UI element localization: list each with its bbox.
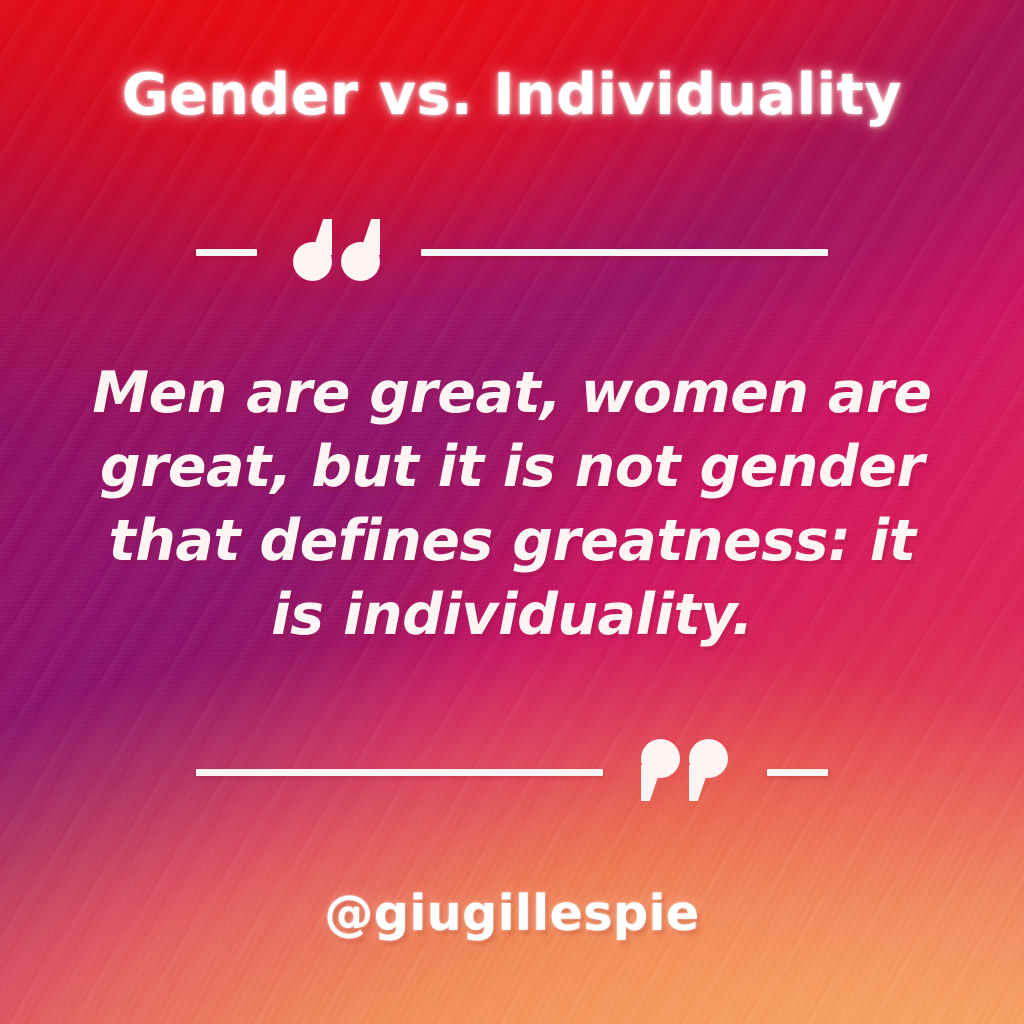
divider-long-rule <box>421 249 828 256</box>
divider-bottom <box>0 732 1024 812</box>
page-title: Gender vs. Individuality <box>0 62 1024 128</box>
open-quote-mark-left <box>293 219 332 281</box>
close-quote-mark-left <box>641 739 680 801</box>
close-quote-tail-right <box>689 765 710 801</box>
divider-short-rule <box>196 249 257 256</box>
divider-long-rule <box>196 769 603 776</box>
quote-text: Men are great, women are great, but it i… <box>88 356 936 652</box>
divider-short-rule <box>767 769 828 776</box>
close-quote-mark-right <box>689 739 728 801</box>
divider-top <box>0 212 1024 292</box>
open-quote-bowl-right <box>341 242 380 281</box>
author-handle: @giugillespie <box>0 885 1024 942</box>
open-quote-mark-right <box>341 219 380 281</box>
card-content: Gender vs. Individuality Men are great, … <box>0 0 1024 1024</box>
quote-card: Gender vs. Individuality Men are great, … <box>0 0 1024 1024</box>
close-quote-icon <box>641 739 731 805</box>
open-quote-bowl-left <box>293 242 332 281</box>
open-quote-icon <box>293 219 383 285</box>
close-quote-tail-left <box>641 765 662 801</box>
